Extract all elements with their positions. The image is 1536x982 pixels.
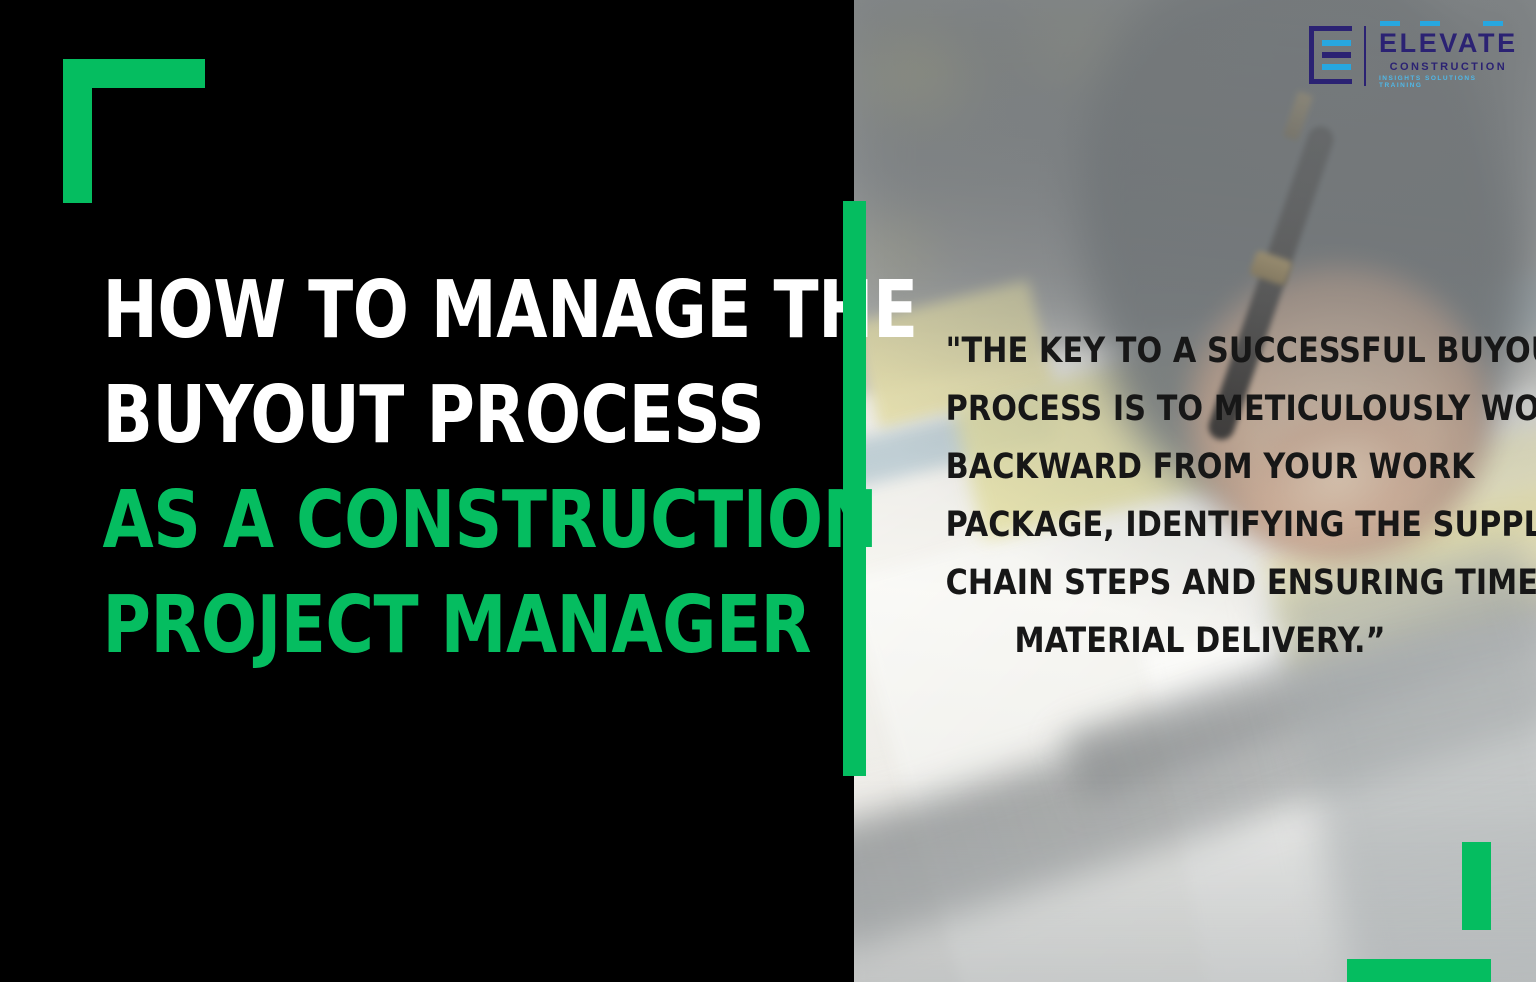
- monogram-bar-2: [1322, 52, 1351, 58]
- logo-divider: [1364, 26, 1366, 86]
- logo-tagline: INSIGHTS SOLUTIONS TRAINING: [1379, 76, 1518, 89]
- left-black-panel: HOW TO MANAGE THE BUYOUT PROCESS AS A CO…: [0, 0, 854, 982]
- quote-line-4: PACKAGE, IDENTIFYING THE SUPPLY: [946, 496, 1455, 554]
- headline-line-3: AS A CONSTRUCTION: [103, 468, 754, 573]
- quote-line-6: MATERIAL DELIVERY.”: [946, 612, 1455, 670]
- logo-tick-3: [1483, 21, 1503, 26]
- monogram-bar-1: [1322, 40, 1351, 46]
- logo-text-group: ELEVATE CONSTRUCTION INSIGHTS SOLUTIONS …: [1379, 24, 1518, 89]
- logo-tick-1: [1380, 21, 1400, 26]
- pull-quote: "THE KEY TO A SUCCESSFUL BUYOUT PROCESS …: [935, 322, 1465, 671]
- corner-bracket-bottom-right-icon: [1347, 842, 1491, 930]
- corner-bracket-arm-vertical: [63, 59, 92, 203]
- corner-bracket-br-arm-vertical: [1462, 842, 1491, 930]
- headline-line-1: HOW TO MANAGE THE: [103, 258, 754, 363]
- headline-line-2: BUYOUT PROCESS: [103, 363, 754, 468]
- quote-line-1: "THE KEY TO A SUCCESSFUL BUYOUT: [946, 322, 1455, 380]
- monogram-bracket-bottom: [1338, 79, 1352, 84]
- poster-canvas: HOW TO MANAGE THE BUYOUT PROCESS AS A CO…: [0, 0, 1536, 982]
- quote-line-2: PROCESS IS TO METICULOUSLY WORK: [946, 380, 1455, 438]
- monogram-bracket-top: [1338, 26, 1352, 31]
- quote-line-5: CHAIN STEPS AND ENSURING TIMELY: [946, 554, 1455, 612]
- page-title: HOW TO MANAGE THE BUYOUT PROCESS AS A CO…: [78, 258, 778, 678]
- monogram-bar-3: [1322, 64, 1351, 70]
- corner-bracket-br-arm-horizontal: [1347, 959, 1491, 982]
- green-divider-bar: [843, 201, 866, 776]
- corner-bracket-top-left-icon: [63, 59, 205, 203]
- brand-logo: ELEVATE CONSTRUCTION INSIGHTS SOLUTIONS …: [1309, 24, 1509, 88]
- logo-wordmark-text: ELEVATE: [1379, 28, 1518, 58]
- quote-line-3: BACKWARD FROM YOUR WORK: [946, 438, 1455, 496]
- logo-subtitle: CONSTRUCTION: [1390, 62, 1507, 73]
- logo-tick-2: [1420, 21, 1440, 26]
- logo-wordmark: ELEVATE: [1379, 30, 1518, 57]
- elevate-e-monogram-icon: [1309, 24, 1353, 86]
- headline-line-4: PROJECT MANAGER: [103, 573, 754, 678]
